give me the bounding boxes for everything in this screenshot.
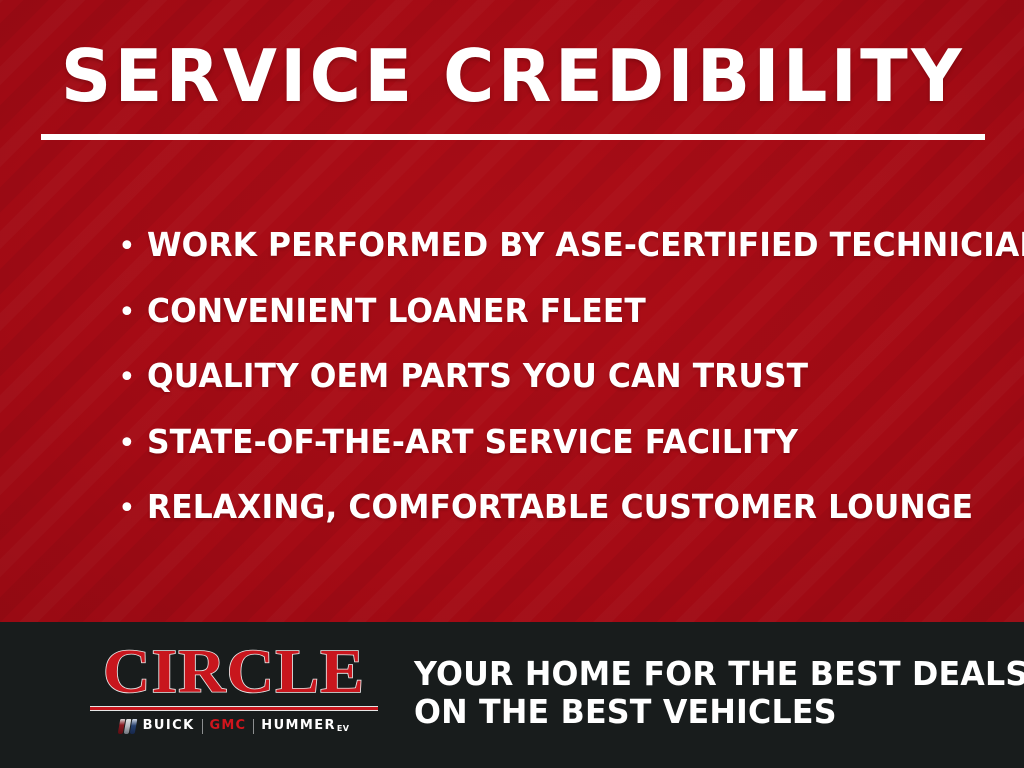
list-item-label: QUALITY OEM PARTS YOU CAN TRUST: [147, 356, 808, 396]
list-item-label: RELAXING, COMFORTABLE CUSTOMER LOUNGE: [147, 487, 973, 527]
list-item-label: STATE-OF-THE-ART SERVICE FACILITY: [147, 422, 798, 462]
slide-body: SERVICE CREDIBILITY • WORK PERFORMED BY …: [0, 0, 1024, 622]
brand-label-hummer-ev: EV: [337, 723, 349, 734]
bullet-dot-icon: •: [118, 489, 147, 529]
bullet-dot-icon: •: [118, 227, 147, 267]
list-item: • WORK PERFORMED BY ASE-CERTIFIED TECHNI…: [118, 225, 998, 291]
list-item: • STATE-OF-THE-ART SERVICE FACILITY: [118, 422, 998, 488]
bullet-list: • WORK PERFORMED BY ASE-CERTIFIED TECHNI…: [118, 225, 998, 553]
presentation-slide: SERVICE CREDIBILITY • WORK PERFORMED BY …: [0, 0, 1024, 768]
list-item: • RELAXING, COMFORTABLE CUSTOMER LOUNGE: [118, 487, 998, 553]
buick-tri-shield-icon: [119, 719, 136, 734]
logo-divider-rule: [90, 706, 378, 711]
tagline-line-1: YOUR HOME FOR THE BEST DEALS: [414, 655, 990, 693]
bullet-dot-icon: •: [118, 293, 147, 333]
footer-tagline: YOUR HOME FOR THE BEST DEALS ON THE BEST…: [414, 655, 1014, 731]
brand-label-buick: BUICK: [143, 718, 195, 734]
brand-label-gmc: GMC: [210, 718, 247, 734]
logo-wordmark: CIRCLE: [79, 644, 389, 700]
page-title: SERVICE CREDIBILITY: [41, 36, 985, 116]
list-item-label: CONVENIENT LOANER FLEET: [147, 291, 646, 331]
brand-separator-icon: [253, 719, 254, 734]
brand-label-hummer-group: HUMMER EV: [261, 718, 349, 734]
list-item: • CONVENIENT LOANER FLEET: [118, 291, 998, 357]
list-item: • QUALITY OEM PARTS YOU CAN TRUST: [118, 356, 998, 422]
title-underline-rule: [41, 134, 985, 140]
bullet-dot-icon: •: [118, 424, 147, 464]
slide-footer: CIRCLE BUICK GMC HUMMER EV YOUR HOME FOR…: [0, 622, 1024, 768]
dealership-logo: CIRCLE BUICK GMC HUMMER EV: [88, 644, 380, 735]
brand-separator-icon: [202, 719, 203, 734]
tagline-line-2: ON THE BEST VEHICLES: [414, 693, 990, 731]
list-item-label: WORK PERFORMED BY ASE-CERTIFIED TECHNICI…: [147, 225, 1024, 265]
page-title-text: SERVICE CREDIBILITY: [55, 36, 971, 116]
brand-strip: BUICK GMC HUMMER EV: [88, 717, 380, 735]
brand-label-hummer: HUMMER: [261, 718, 336, 734]
bullet-dot-icon: •: [118, 358, 147, 398]
